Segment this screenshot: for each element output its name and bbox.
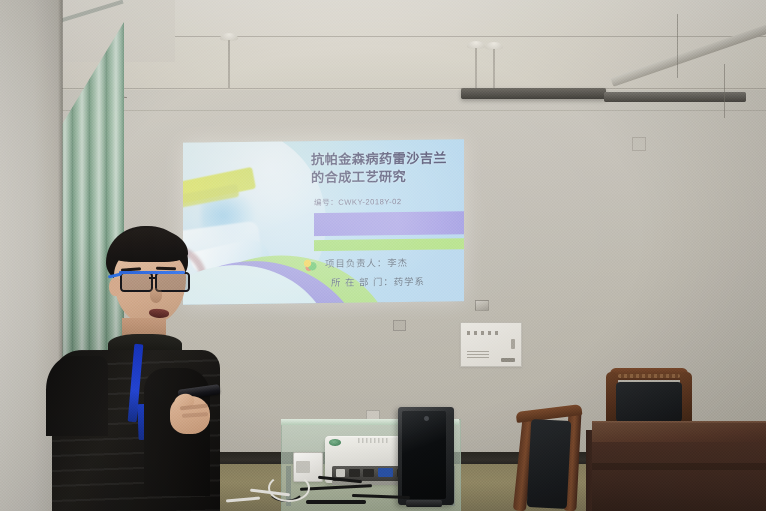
slide-title-line-1: 抗帕金森病药雷沙吉兰: [311, 149, 463, 169]
wall-outlet-icon: [632, 137, 646, 151]
power-adapter-face: [296, 461, 310, 473]
hanger-wire: [724, 64, 725, 118]
panel-label-lines: [467, 351, 489, 358]
monitor-screen-reflection: [402, 411, 446, 499]
glasses-blue-accent: [119, 271, 185, 274]
hanger-wire: [677, 14, 678, 78]
wall-control-panel[interactable]: [460, 322, 522, 367]
conference-table-front: [592, 442, 766, 511]
presenter: [52, 222, 227, 511]
nose: [150, 288, 162, 303]
slide-band-green: [314, 238, 464, 251]
eyebrow: [156, 267, 176, 271]
glasses-lens: [120, 272, 153, 292]
photo-scene: 抗帕金森病药雷沙吉兰 的合成工艺研究 编号：CWKY-2018Y-02 项目负责…: [0, 0, 766, 511]
pendant-rod: [228, 40, 230, 88]
cable: [306, 500, 366, 504]
panel-button-row: [467, 331, 501, 335]
slide-project-leader: 项目负责人：李杰: [325, 255, 408, 270]
ceiling-light-fixture: [461, 88, 606, 99]
chair-slat: [618, 374, 680, 378]
glasses-bridge: [149, 277, 156, 279]
slide-department: 所 在 部 门：药学系: [331, 274, 425, 289]
projector-port: [336, 469, 345, 477]
panel-badge: [501, 358, 515, 362]
slide-band-purple: [314, 211, 464, 236]
slide-title: 抗帕金森病药雷沙吉兰 的合成工艺研究: [311, 149, 463, 186]
wall-outlet-icon: [393, 320, 406, 331]
projector-vga-port: [378, 468, 393, 477]
panel-slider: [511, 339, 515, 349]
glasses-icon: [118, 272, 188, 289]
projector-lens-icon: [329, 439, 341, 446]
chair-back-pad: [616, 382, 682, 422]
slide-title-line-2: 的合成工艺研究: [311, 167, 463, 187]
monitor-base: [406, 500, 442, 507]
projector-port: [349, 469, 360, 477]
jacket-shoulder: [46, 356, 108, 436]
conference-table-apron: [592, 463, 766, 470]
slide-project-code: 编号：CWKY-2018Y-02: [314, 195, 464, 208]
projector-vent: [358, 438, 388, 443]
chair-left: [516, 408, 594, 511]
wall-outlet-icon: [475, 300, 489, 311]
chair-back-pad: [527, 419, 572, 509]
projector-port: [363, 469, 374, 477]
white-cable-loop: [268, 474, 310, 502]
